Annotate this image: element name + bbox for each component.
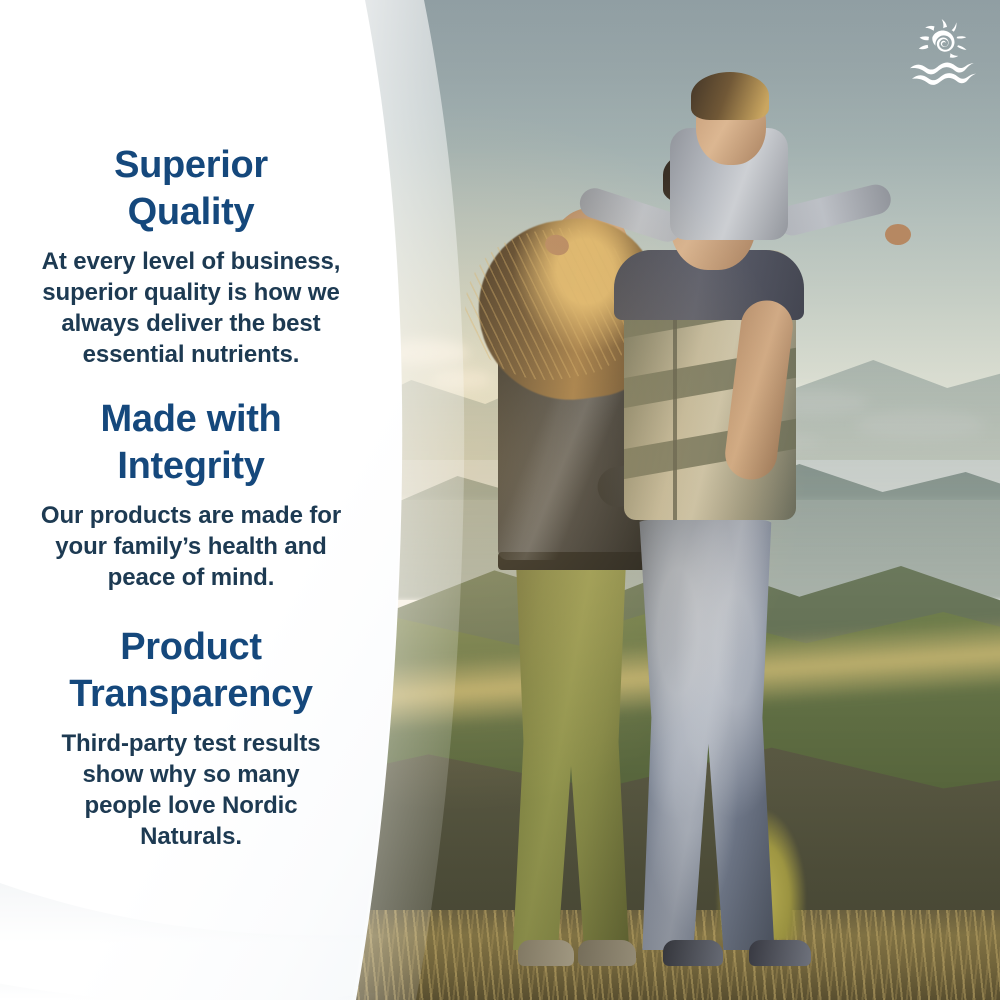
value-body: Our products are made for your family’s … xyxy=(26,500,356,593)
heading-line: Superior xyxy=(114,144,268,186)
cloud xyxy=(432,370,492,390)
value-block-made-with-integrity: Made withIntegrity Our products are made… xyxy=(26,396,356,593)
heading-line: Product xyxy=(120,626,261,668)
child-hair xyxy=(691,72,769,120)
value-heading: Made withIntegrity xyxy=(26,396,356,490)
child-right-hand xyxy=(885,224,911,245)
photo-scene xyxy=(340,0,1000,1000)
value-body: At every level of business, superior qua… xyxy=(26,246,356,370)
father-shoe xyxy=(749,940,811,966)
mother-shoe xyxy=(578,940,636,966)
heading-line: Integrity xyxy=(117,445,264,487)
value-body: Third-party test results show why so man… xyxy=(41,728,341,852)
value-block-superior-quality: SuperiorQuality At every level of busine… xyxy=(26,142,356,370)
value-heading: SuperiorQuality xyxy=(26,142,356,236)
heading-line: Transparency xyxy=(69,673,313,715)
family-mountain-photo xyxy=(340,0,1000,1000)
value-blocks: SuperiorQuality At every level of busine… xyxy=(0,0,390,1000)
sun-wave-logo-icon xyxy=(902,14,982,88)
value-heading: ProductTransparency xyxy=(26,624,356,718)
mother-waist xyxy=(498,552,656,570)
mother-shoe xyxy=(518,940,574,966)
promo-canvas: SuperiorQuality At every level of busine… xyxy=(0,0,1000,1000)
value-block-product-transparency: ProductTransparency Third-party test res… xyxy=(26,624,356,852)
heading-line: Made with xyxy=(101,398,282,440)
heading-line: Quality xyxy=(128,191,255,233)
father-shoe xyxy=(663,940,723,966)
